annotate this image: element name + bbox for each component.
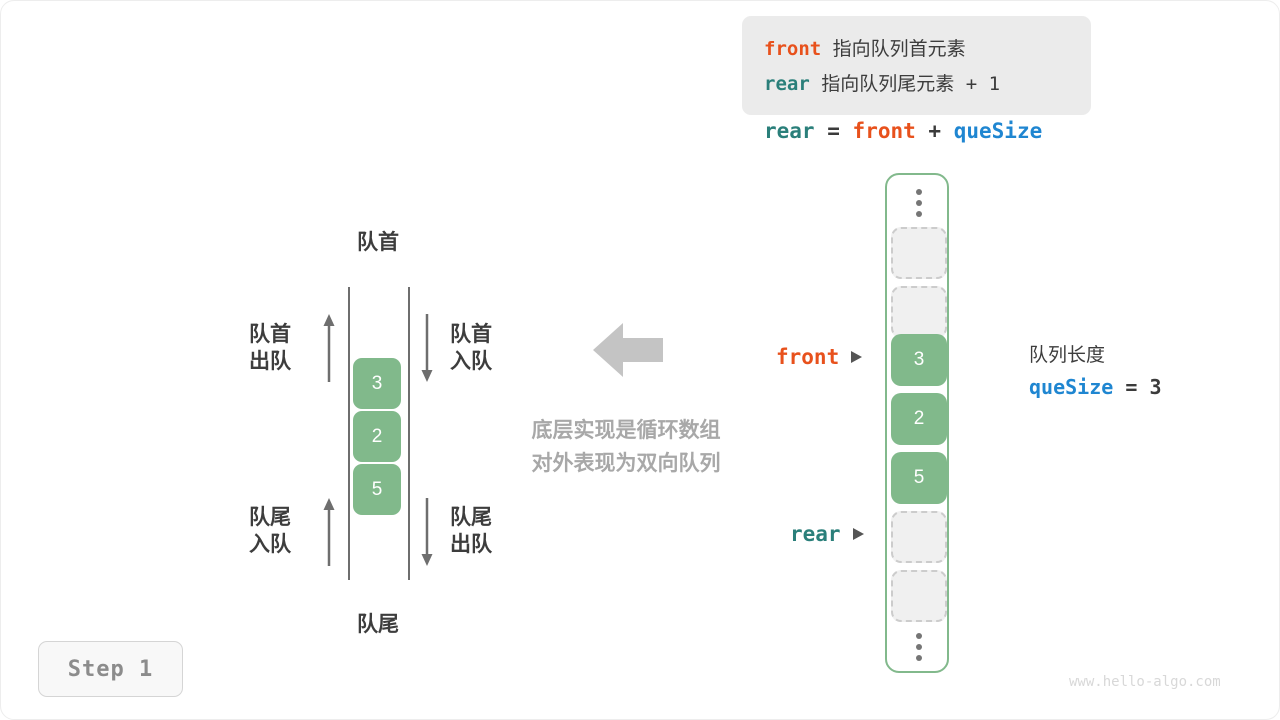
quesize-block: 队列长度 queSize = 3 xyxy=(1029,341,1161,403)
array-cell-4: 5 xyxy=(891,452,947,504)
legend-keyword-rear: rear xyxy=(764,73,810,95)
array-cell-3: 2 xyxy=(891,393,947,445)
array-ellipsis-bottom-icon xyxy=(887,627,951,667)
queue-box-0-value: 3 xyxy=(372,373,383,395)
array-ellipsis-top-icon xyxy=(887,183,951,223)
label-front-dequeue-line1: 队首 xyxy=(249,321,291,348)
watermark: www.hello-algo.com xyxy=(1069,674,1221,690)
front-pointer-text: front xyxy=(776,345,839,369)
queue-box-0: 3 xyxy=(353,358,401,409)
queue-box-2: 5 xyxy=(353,464,401,515)
array-cell-6 xyxy=(891,570,947,622)
array-cell-2-value: 3 xyxy=(914,349,925,371)
legend-text-rear: 指向队列尾元素 xyxy=(821,74,954,95)
step-badge-label: Step 1 xyxy=(68,657,153,682)
legend-box: front 指向队列首元素 rear 指向队列尾元素 + 1 xyxy=(742,16,1091,115)
label-front-enqueue-line2: 入队 xyxy=(450,348,492,375)
rear-pointer-label: rear xyxy=(790,522,864,546)
array-cell-5 xyxy=(891,511,947,563)
label-front-dequeue: 队首 出队 xyxy=(249,321,291,375)
arrow-down-front-enqueue-icon xyxy=(419,314,435,382)
formula-front: front xyxy=(853,119,916,143)
label-rear-enqueue-line2: 入队 xyxy=(249,531,291,558)
label-rear-enqueue-line1: 队尾 xyxy=(249,504,291,531)
queue-top-label: 队首 xyxy=(328,229,428,256)
legend-keyword-front: front xyxy=(764,38,821,60)
quesize-expression: queSize = 3 xyxy=(1029,371,1161,403)
left-pointing-block-arrow-icon xyxy=(593,321,663,379)
rear-pointer-arrow-icon xyxy=(853,528,864,540)
queue-box-2-value: 5 xyxy=(372,479,383,501)
arrow-up-front-dequeue-icon xyxy=(321,314,337,382)
legend-suffix-rear: + 1 xyxy=(966,73,1000,95)
quesize-name: queSize xyxy=(1029,375,1113,399)
legend-line-rear: rear 指向队列尾元素 + 1 xyxy=(764,67,1091,102)
label-rear-enqueue: 队尾 入队 xyxy=(249,504,291,558)
center-note: 底层实现是循环数组 对外表现为双向队列 xyxy=(506,414,746,480)
queue-rail-right xyxy=(408,287,410,580)
legend-line-front: front 指向队列首元素 xyxy=(764,32,1091,67)
formula-equals: = xyxy=(827,119,840,143)
formula-rear-equals-front-plus-quesize: rear = front + queSize xyxy=(764,119,1042,143)
center-note-line1: 底层实现是循环数组 xyxy=(506,414,746,447)
formula-quesize: queSize xyxy=(954,119,1043,143)
arrow-down-rear-dequeue-icon xyxy=(419,498,435,566)
queue-box-1-value: 2 xyxy=(372,426,383,448)
formula-plus: + xyxy=(928,119,941,143)
center-note-line2: 对外表现为双向队列 xyxy=(506,447,746,480)
arrow-up-rear-enqueue-icon xyxy=(321,498,337,566)
formula-rear: rear xyxy=(764,119,815,143)
array-cell-4-value: 5 xyxy=(914,467,925,489)
array-cell-0 xyxy=(891,227,947,279)
quesize-caption: 队列长度 xyxy=(1029,341,1161,371)
label-rear-dequeue-line1: 队尾 xyxy=(450,504,492,531)
step-badge: Step 1 xyxy=(38,641,183,697)
front-pointer-label: front xyxy=(776,345,862,369)
legend-text-front: 指向队列首元素 xyxy=(833,39,966,60)
quesize-equals: = xyxy=(1125,375,1137,399)
queue-bottom-label: 队尾 xyxy=(328,611,428,638)
rear-pointer-text: rear xyxy=(790,522,841,546)
array-cell-2: 3 xyxy=(891,334,947,386)
queue-box-1: 2 xyxy=(353,411,401,462)
label-rear-dequeue: 队尾 出队 xyxy=(450,504,492,558)
queue-rail-left xyxy=(348,287,350,580)
array-cell-3-value: 2 xyxy=(914,408,925,430)
label-front-dequeue-line2: 出队 xyxy=(249,348,291,375)
label-front-enqueue: 队首 入队 xyxy=(450,321,492,375)
label-front-enqueue-line1: 队首 xyxy=(450,321,492,348)
array-cell-1 xyxy=(891,286,947,338)
diagram-canvas: front 指向队列首元素 rear 指向队列尾元素 + 1 rear = fr… xyxy=(0,0,1280,720)
front-pointer-arrow-icon xyxy=(851,351,862,363)
quesize-value: 3 xyxy=(1149,375,1161,399)
circular-array-container: 3 2 5 xyxy=(885,173,949,673)
label-rear-dequeue-line2: 出队 xyxy=(450,531,492,558)
